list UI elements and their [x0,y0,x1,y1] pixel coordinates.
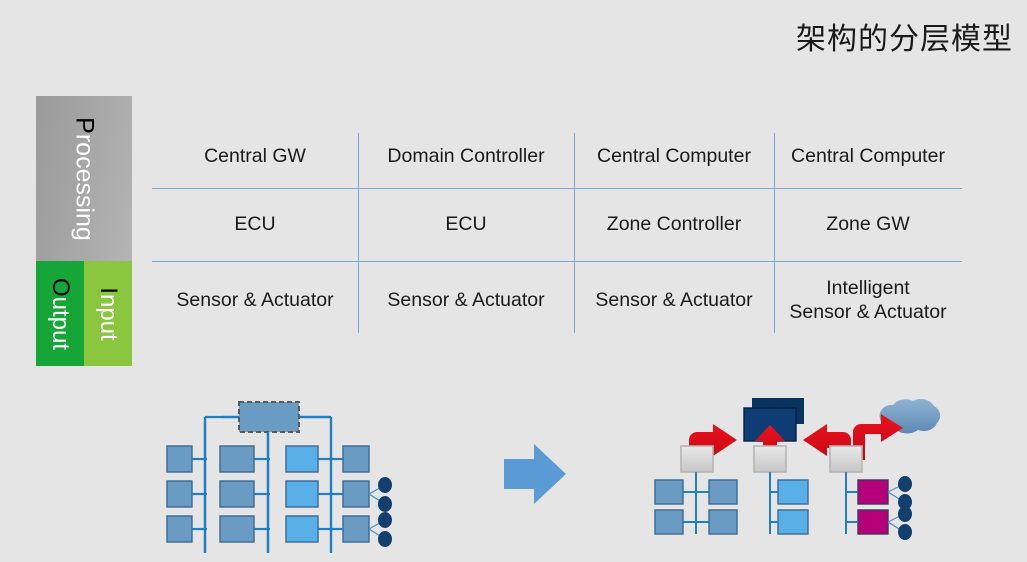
zone2-nodes [778,480,808,534]
stack-band-processing: Processing [36,96,132,261]
zone3-smart-sensors [858,480,888,534]
left-column-2-nodes [220,446,254,542]
matrix-cell-r2c3-line2: Sensor & Actuator [789,301,946,325]
page-title: 架构的分层模型 [796,14,1013,58]
architecture-matrix: Central GW Domain Controller Central Com… [152,116,962,354]
slide-root: 架构的分层模型 Processing Output Input Central … [0,0,1027,562]
stack-band-output: Output [36,261,84,366]
layer-stack: Processing Output Input [36,96,132,366]
stack-band-output-label: Output [46,277,74,349]
left-sensor-links [369,485,385,539]
matrix-cell-r0c0: Central GW [152,126,358,188]
stack-band-input: Input [84,261,132,366]
stack-band-output-rest: utput [47,296,74,349]
left-col4-connectors [331,459,343,529]
matrix-cell-r0c2: Central Computer [574,126,774,188]
stack-band-processing-rest: rocessing [71,133,99,240]
zone3-connectors [846,492,858,522]
matrix-cell-r0c1: Domain Controller [358,126,574,188]
matrix-cell-r1c2: Zone Controller [574,188,774,261]
diagram-area [0,386,1027,562]
matrix-cell-r2c3-line1: Intelligent [826,277,909,301]
diagram-left [150,402,392,553]
transition-arrow [504,444,566,504]
left-column-4-nodes [343,446,369,542]
matrix-cell-r0c3: Central Computer [774,126,962,188]
matrix-cell-r1c3: Zone GW [774,188,962,261]
matrix-cell-r2c0: Sensor & Actuator [152,261,358,341]
left-column-1-nodes [167,446,192,542]
zone-boxes [681,446,862,472]
left-column-3-nodes [286,446,318,542]
matrix-cell-r2c2: Sensor & Actuator [574,261,774,341]
diagram-right [655,398,940,540]
zone3-sensor-dots [898,476,912,540]
stack-band-output-cap: O [47,277,74,296]
matrix-cell-r1c1: ECU [358,188,574,261]
matrix-cell-r1c0: ECU [152,188,358,261]
zone2-connectors [770,492,778,522]
matrix-cell-r2c3: Intelligent Sensor & Actuator [774,261,962,341]
stack-band-processing-label: Processing [70,117,99,241]
matrix-cell-r2c1: Sensor & Actuator [358,261,574,341]
stack-band-processing-cap: P [71,117,99,134]
zone-box-2 [754,446,786,472]
stack-band-input-rest: nput [95,293,122,340]
zone-box-1 [681,446,713,472]
left-central-gateway [239,402,299,432]
stack-band-input-cap: I [95,287,122,294]
left-sensor-dots [378,477,392,547]
stack-band-input-label: Input [94,287,122,340]
zone-box-3 [830,446,862,472]
